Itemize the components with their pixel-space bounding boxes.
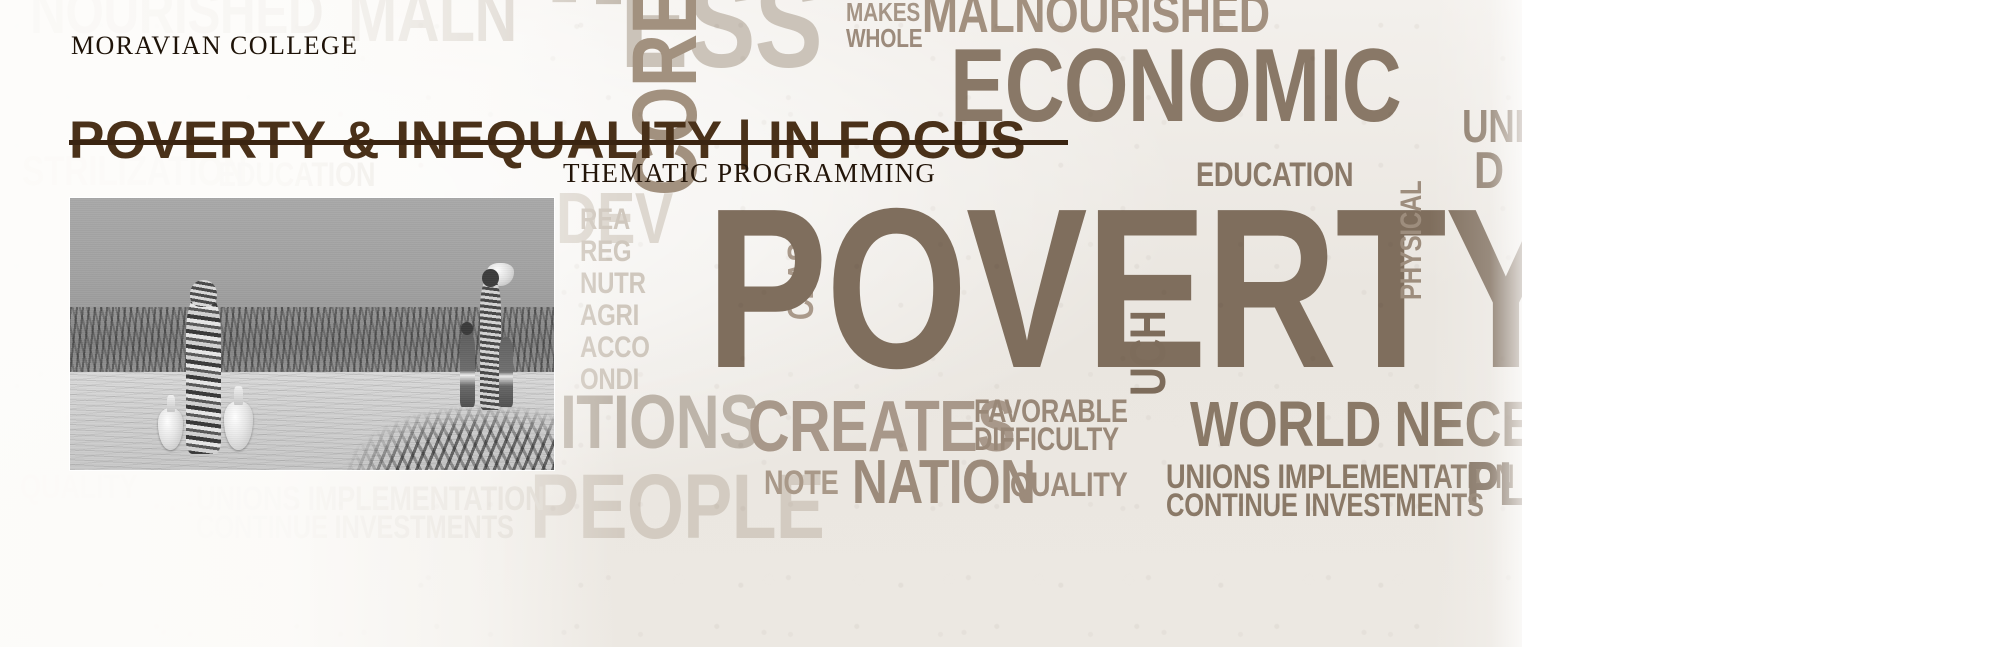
wordcloud-word: NOTE [764,470,838,498]
banner-photograph [70,198,554,470]
wordcloud-word: ITIONS [560,392,759,454]
wordcloud-word: WORLD NECESS [1190,398,1522,450]
wordcloud-word: ACCO [580,336,650,361]
photo-child-figure-right [499,337,513,408]
wordcloud-word: UCH [1128,311,1169,396]
photo-child-figure-left [460,331,475,407]
photo-adult-figure [480,277,500,410]
wordcloud-word: HOMELESS [552,0,580,4]
wordcloud-word: QUALITY [1010,472,1127,500]
wordcloud-word: AGRI [580,304,639,329]
wordcloud-word: REG [580,240,631,265]
photo-woman-carrying-water [176,280,229,454]
photo-water-jug-left [158,408,182,450]
wordcloud-word: CONTINUE INVESTMENTS [1166,492,1484,518]
wordcloud-word: WHOLE [846,28,922,49]
institution-name: MORAVIAN COLLEGE [71,31,358,61]
wordcloud-word: MAKES [846,2,920,23]
page-subtitle: THEMATIC PROGRAMMING [563,158,936,189]
wordcloud-word: REA [580,208,630,233]
wordcloud-word: MALN [348,0,517,47]
wordcloud-word: CONTINUE INVESTMENTS [196,514,514,540]
photo-woman-body [186,290,221,454]
wordcloud-word: UNDER [1462,108,1522,146]
wordcloud-word: NUTR [580,272,646,297]
wordcloud-word: QUALITY [20,474,137,502]
wordcloud-word: NATION [852,458,1035,509]
title-underline-rule [69,140,1068,145]
photo-adult-head [482,269,499,287]
page-banner: NOURISHEDMALNSTRUCTRESOUHOMELESSPOPULESS… [0,0,2000,647]
wordcloud-word: PHYSICAL [1400,181,1425,300]
photo-woman-head [190,280,217,308]
photo-family-group [457,269,525,410]
